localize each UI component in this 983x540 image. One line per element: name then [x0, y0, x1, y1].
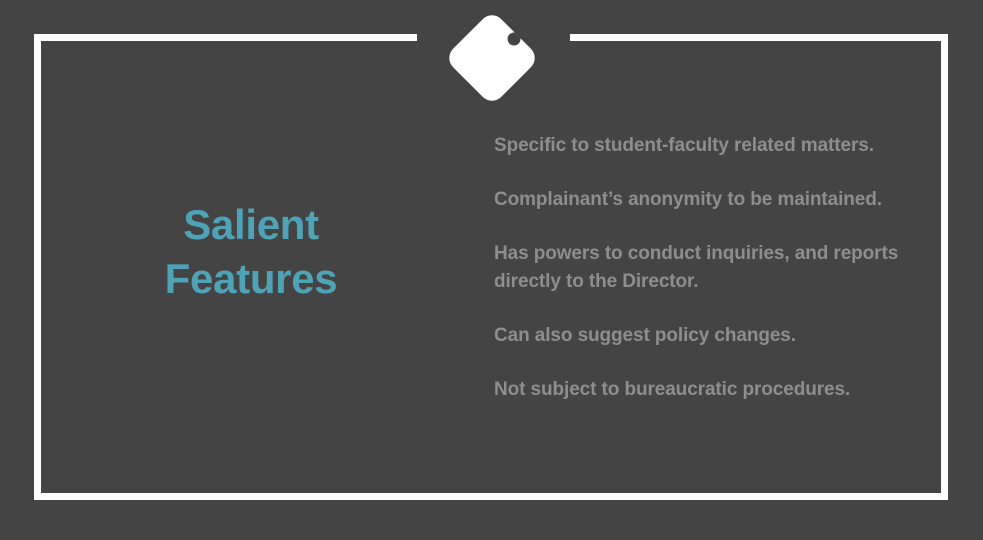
frame-border-right — [941, 34, 948, 500]
list-item: Specific to student-faculty related matt… — [494, 132, 924, 160]
frame-border-top-right — [570, 34, 948, 41]
page-title: Salient Features — [165, 198, 338, 306]
list-item: Not subject to bureaucratic procedures. — [494, 376, 924, 404]
slide-canvas: Salient Features Specific to student-fac… — [0, 0, 983, 540]
bullet-list: Specific to student-faculty related matt… — [461, 41, 941, 404]
list-item: Can also suggest policy changes. — [494, 322, 924, 350]
page-title-line-2: Features — [165, 252, 338, 306]
frame-border-top-left — [34, 34, 417, 41]
page-title-line-1: Salient — [165, 198, 338, 252]
list-item: Complainant’s anonymity to be maintained… — [494, 186, 924, 214]
slide-content: Salient Features Specific to student-fac… — [41, 41, 941, 493]
list-item: Has powers to conduct inquiries, and rep… — [494, 240, 924, 296]
title-column: Salient Features — [41, 41, 461, 493]
frame-border-bottom — [34, 493, 948, 500]
frame-border-left — [34, 34, 41, 500]
